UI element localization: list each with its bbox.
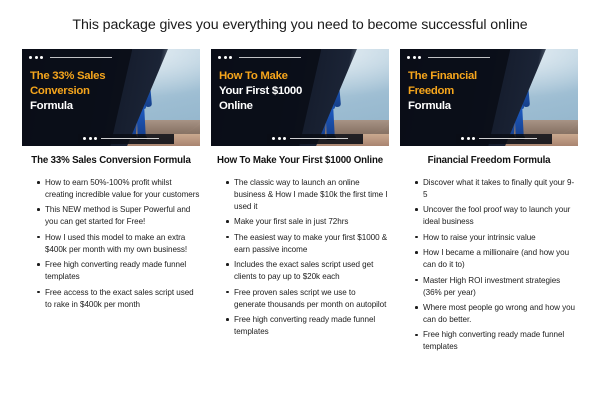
- thumbnail-accent-line: The 33% Sales: [30, 69, 140, 84]
- window-dots-icon: [29, 56, 112, 59]
- window-dots-icon-bottom: [461, 137, 540, 140]
- list-item: Discover what it takes to finally quit y…: [416, 177, 578, 201]
- benefit-list: Discover what it takes to finally quit y…: [400, 177, 578, 357]
- list-item: Free high converting ready made funnel t…: [416, 329, 578, 353]
- page-title: This package gives you everything you ne…: [0, 0, 600, 34]
- offer-card[interactable]: How To Make Your First $1000 Online How …: [211, 49, 389, 341]
- list-item: Free proven sales script we use to gener…: [227, 287, 389, 311]
- list-item: How to raise your intrinsic value: [416, 232, 578, 244]
- list-item: The classic way to launch an online busi…: [227, 177, 389, 213]
- list-item: Includes the exact sales script used get…: [227, 259, 389, 283]
- product-thumbnail[interactable]: How To Make Your First $1000 Online: [211, 49, 389, 146]
- list-item: Master High ROI investment strategies (3…: [416, 275, 578, 299]
- window-dots-icon: [218, 56, 301, 59]
- page-root: This package gives you everything you ne…: [0, 0, 600, 400]
- offer-card[interactable]: The Financial Freedom Formula Financial …: [400, 49, 578, 357]
- offer-cards-row: The 33% Sales Conversion Formula The 33%…: [0, 49, 600, 357]
- window-dots-icon-bottom: [83, 137, 162, 140]
- offer-card[interactable]: The 33% Sales Conversion Formula The 33%…: [22, 49, 200, 314]
- thumbnail-accent-line: Conversion: [30, 84, 140, 99]
- list-item: Where most people go wrong and how you c…: [416, 302, 578, 326]
- thumbnail-plain-line: Your First $1000: [219, 84, 329, 99]
- window-dots-icon: [407, 56, 490, 59]
- thumbnail-title: How To Make Your First $1000 Online: [219, 69, 329, 113]
- list-item: Free high converting ready made funnel t…: [38, 259, 200, 283]
- benefit-list: How to earn 50%-100% profit whilst creat…: [22, 177, 200, 314]
- list-item: How to earn 50%-100% profit whilst creat…: [38, 177, 200, 201]
- list-item: How I used this model to make an extra $…: [38, 232, 200, 256]
- list-item: The easiest way to make your first $1000…: [227, 232, 389, 256]
- list-item: Make your first sale in just 72hrs: [227, 216, 389, 228]
- thumbnail-accent-line: How To Make: [219, 69, 329, 84]
- thumbnail-accent-line: Freedom: [408, 84, 518, 99]
- card-title: The 33% Sales Conversion Formula: [29, 155, 192, 168]
- product-thumbnail[interactable]: The 33% Sales Conversion Formula: [22, 49, 200, 146]
- product-thumbnail[interactable]: The Financial Freedom Formula: [400, 49, 578, 146]
- list-item: This NEW method is Super Powerful and yo…: [38, 204, 200, 228]
- list-item: Uncover the fool proof way to launch you…: [416, 204, 578, 228]
- thumbnail-accent-line: The Financial: [408, 69, 518, 84]
- thumbnail-plain-line: Online: [219, 99, 329, 114]
- list-item: Free access to the exact sales script us…: [38, 287, 200, 311]
- window-dots-icon-bottom: [272, 137, 351, 140]
- benefit-list: The classic way to launch an online busi…: [211, 177, 389, 342]
- thumbnail-plain-line: Formula: [408, 99, 518, 114]
- thumbnail-plain-line: Formula: [30, 99, 140, 114]
- thumbnail-title: The Financial Freedom Formula: [408, 69, 518, 113]
- thumbnail-title: The 33% Sales Conversion Formula: [30, 69, 140, 113]
- card-title: How To Make Your First $1000 Online: [215, 155, 385, 168]
- list-item: Free high converting ready made funnel t…: [227, 314, 389, 338]
- card-title: Financial Freedom Formula: [426, 155, 553, 168]
- list-item: How I became a millionaire (and how you …: [416, 247, 578, 271]
